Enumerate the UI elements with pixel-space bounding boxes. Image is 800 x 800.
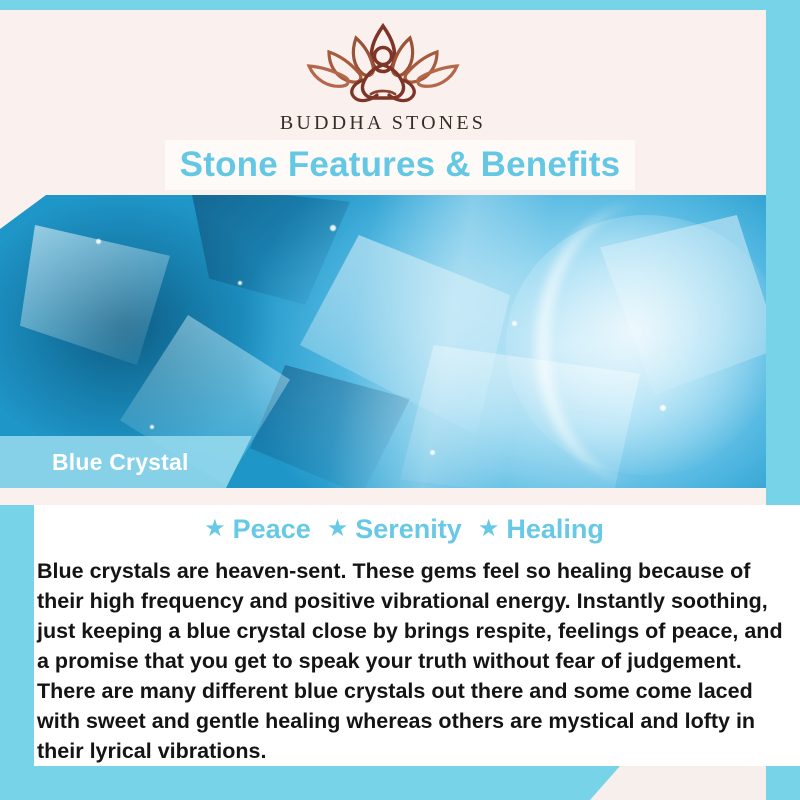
poster-root: BUDDHA STONES Stone Features & Benefits … (0, 0, 800, 800)
sparkle-icon (150, 425, 154, 429)
body-paragraph-1: Blue crystals are heaven-sent. These gem… (37, 556, 785, 676)
hero-image: Blue Crystal (0, 195, 766, 488)
keyword-item-healing: ★ Healing (478, 514, 604, 545)
hero-caption: Blue Crystal (0, 436, 252, 488)
sparkle-icon (430, 450, 435, 455)
sparkle-icon (96, 239, 101, 244)
body-paragraph-2: There are many different blue crystals o… (37, 676, 785, 766)
star-icon: ★ (327, 517, 349, 541)
keyword-item-peace: ★ Peace (204, 514, 311, 545)
frame-top-border (0, 0, 800, 10)
keyword-list: ★ Peace ★ Serenity ★ Healing (34, 508, 774, 550)
keyword-item-serenity: ★ Serenity (327, 514, 462, 545)
keyword-label: Healing (506, 514, 604, 545)
brand-logo: BUDDHA STONES (0, 18, 766, 135)
frame-bottom-border (0, 766, 620, 800)
sparkle-icon (238, 281, 242, 285)
page-title: Stone Features & Benefits (165, 141, 635, 189)
brand-name: BUDDHA STONES (280, 112, 486, 135)
keyword-label: Serenity (355, 514, 462, 545)
sparkle-icon (330, 225, 336, 231)
body-copy: Blue crystals are heaven-sent. These gem… (37, 556, 785, 766)
lotus-meditation-figure-icon (293, 18, 473, 110)
cream-divider-strip (0, 488, 766, 505)
star-icon: ★ (478, 517, 500, 541)
sparkle-icon (512, 321, 517, 326)
keyword-label: Peace (233, 514, 311, 545)
star-icon: ★ (204, 517, 226, 541)
sparkle-icon (660, 405, 666, 411)
